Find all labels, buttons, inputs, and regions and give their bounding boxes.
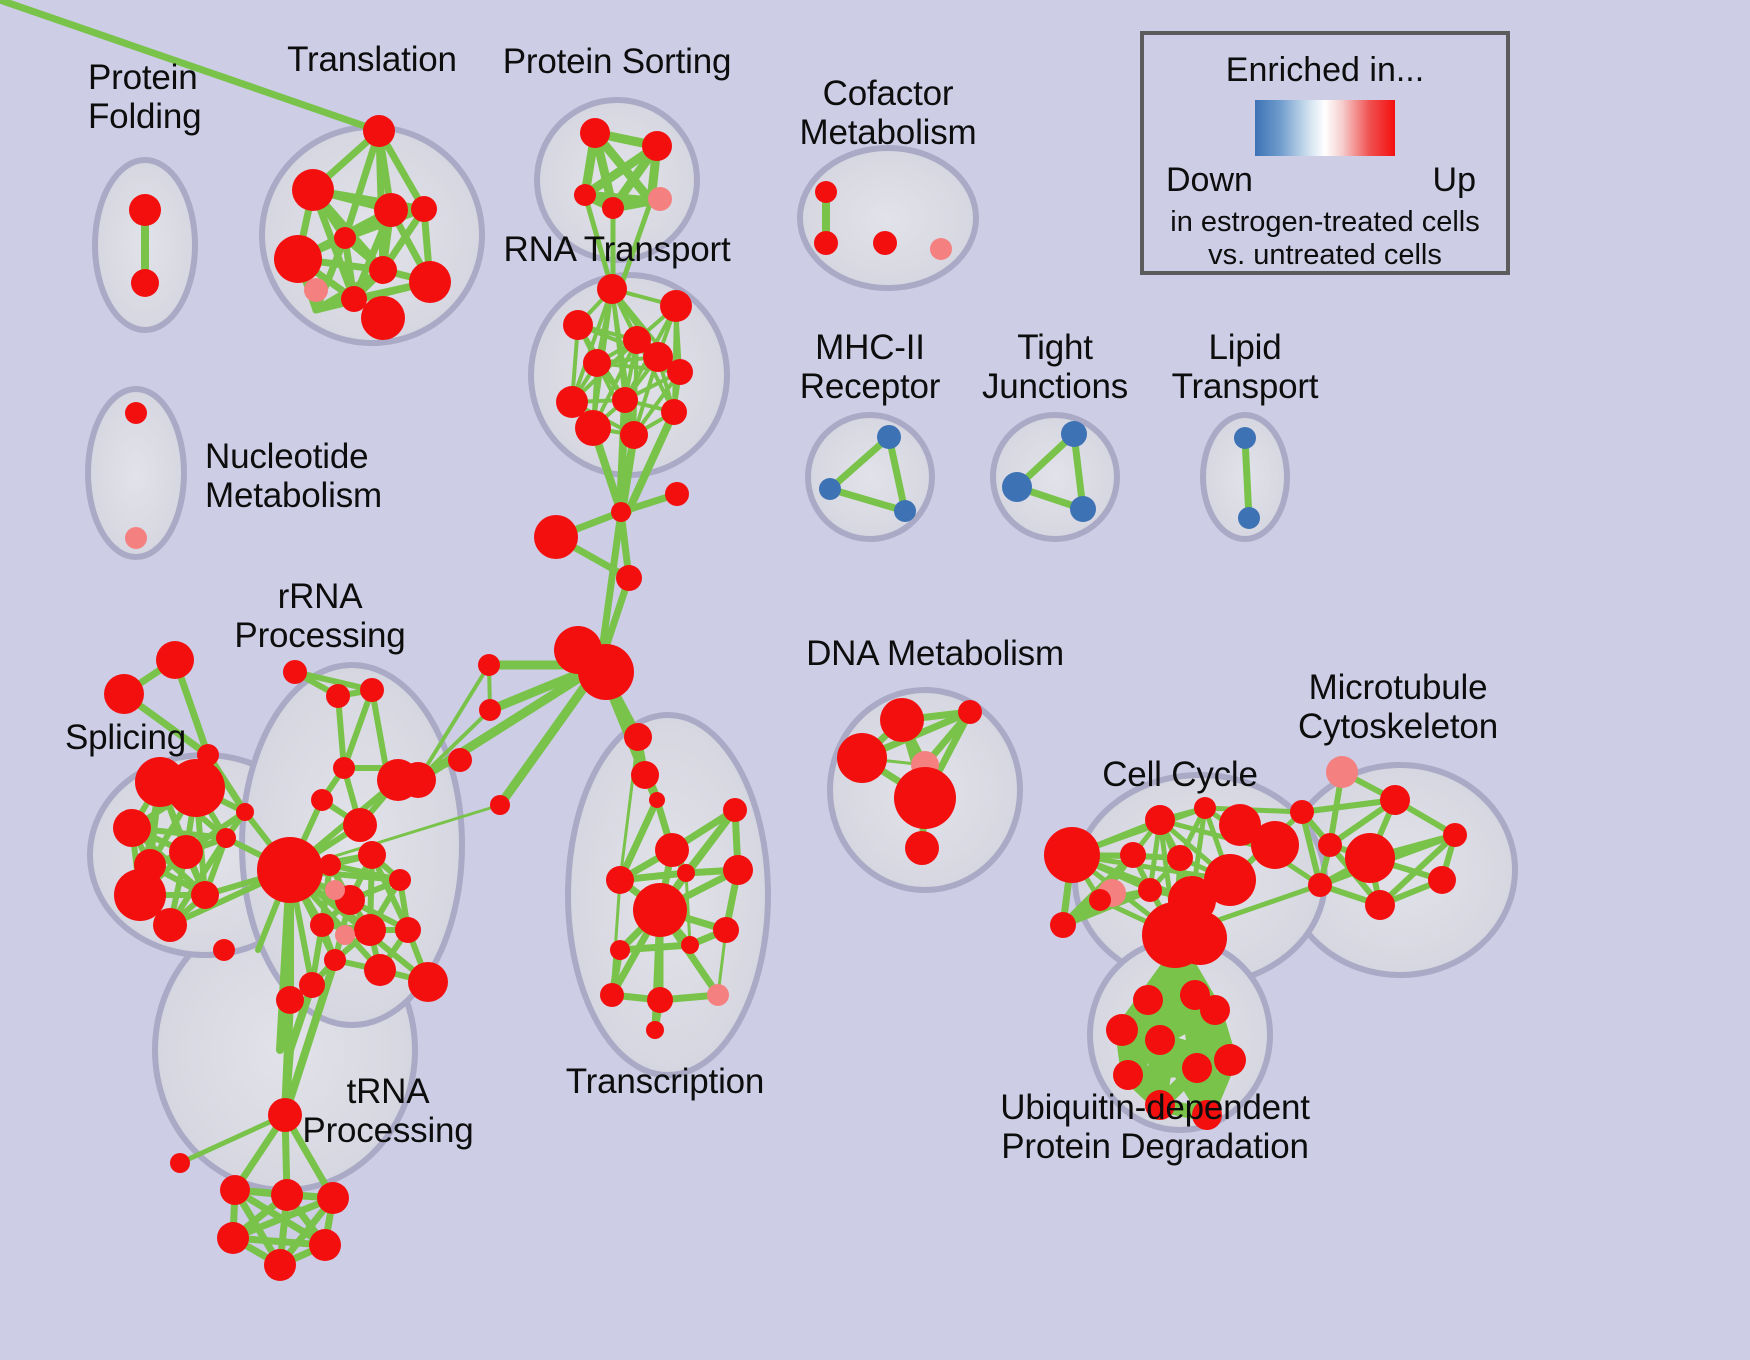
node-up <box>191 881 219 909</box>
node-up-weak <box>707 984 729 1006</box>
node-up <box>616 565 642 591</box>
node-up <box>216 828 236 848</box>
node-up <box>815 181 837 203</box>
cluster-label-cofactor-metabolism: Cofactor Metabolism <box>800 74 977 152</box>
node-up <box>958 700 982 724</box>
node-up <box>1318 833 1342 857</box>
node-down <box>1070 496 1096 522</box>
node-down <box>877 425 901 449</box>
node-up <box>1290 800 1314 824</box>
node-up <box>479 699 501 721</box>
node-up <box>575 410 611 446</box>
cluster-label-splicing: Splicing <box>65 718 186 757</box>
node-up <box>389 869 411 891</box>
node-up <box>364 954 396 986</box>
node-up-weak <box>930 238 952 260</box>
node-up <box>1182 1053 1212 1083</box>
node-up <box>271 1179 303 1211</box>
node-up <box>360 678 384 702</box>
node-up <box>268 1098 302 1132</box>
node-up <box>170 1153 190 1173</box>
node-up <box>597 274 627 304</box>
node-up <box>894 767 956 829</box>
node-down <box>1061 421 1087 447</box>
node-down <box>1002 472 1032 502</box>
node-up <box>1044 827 1100 883</box>
node-up <box>217 1222 249 1254</box>
node-up <box>661 399 687 425</box>
node-up-weak <box>648 187 672 211</box>
node-up <box>677 864 695 882</box>
cluster-label-ubiquitin-protein-degradation: Ubiquitin-dependent Protein Degradation <box>1000 1088 1310 1166</box>
cluster-label-mhc-ii-receptor: MHC-II Receptor <box>800 328 940 406</box>
node-up <box>647 987 673 1013</box>
node-up <box>1194 797 1216 819</box>
node-up <box>1200 995 1230 1025</box>
node-up <box>905 831 939 865</box>
node-up <box>612 387 638 413</box>
node-up <box>1428 866 1456 894</box>
node-up <box>642 131 672 161</box>
node-up <box>631 761 659 789</box>
node-up <box>1170 940 1190 960</box>
node-up <box>880 698 924 742</box>
cluster-label-translation: Translation <box>287 40 457 79</box>
node-up <box>1308 873 1332 897</box>
node-up <box>723 855 753 885</box>
node-up <box>131 269 159 297</box>
node-up-weak <box>304 278 328 302</box>
node-up-weak <box>335 925 355 945</box>
node-up <box>624 723 652 751</box>
node-up <box>873 231 897 255</box>
node-up <box>1145 805 1175 835</box>
node-up <box>578 644 634 700</box>
legend-color-gradient-bar <box>1255 100 1395 156</box>
node-up <box>478 654 500 676</box>
node-up <box>358 841 386 869</box>
node-up <box>409 261 451 303</box>
node-up <box>257 837 323 903</box>
node-up <box>1167 845 1193 871</box>
cluster-label-transcription: Transcription <box>566 1062 764 1101</box>
node-up <box>649 792 665 808</box>
node-up <box>310 913 334 937</box>
node-up <box>311 789 333 811</box>
node-up <box>574 184 596 206</box>
node-up <box>274 235 322 283</box>
node-up <box>341 286 367 312</box>
node-up <box>606 866 634 894</box>
node-up <box>723 798 747 822</box>
cluster-label-lipid-transport: Lipid Transport <box>1172 328 1319 406</box>
node-up <box>156 641 194 679</box>
node-up <box>814 231 838 255</box>
hull-mhc-ii-receptor <box>808 415 932 539</box>
node-up <box>264 1249 296 1281</box>
node-up <box>610 940 630 960</box>
node-up <box>299 972 325 998</box>
node-up <box>369 256 397 284</box>
node-up <box>411 196 437 222</box>
node-up <box>580 118 610 148</box>
node-up <box>319 854 341 876</box>
legend-box: Enriched in... Down Up in estrogen-treat… <box>1140 31 1510 275</box>
node-up <box>1113 1060 1143 1090</box>
node-up <box>333 757 355 779</box>
node-up <box>1253 837 1275 859</box>
node-up <box>713 917 739 943</box>
node-up <box>1133 985 1163 1015</box>
node-up <box>283 660 307 684</box>
node-up <box>129 194 161 226</box>
node-up <box>374 193 408 227</box>
cluster-label-dna-metabolism: DNA Metabolism <box>806 634 1064 673</box>
node-up <box>113 809 151 847</box>
node-up <box>448 748 472 772</box>
node-up <box>354 914 386 946</box>
node-up-weak <box>325 880 345 900</box>
cluster-label-microtubule-cytoskeleton: Microtubule Cytoskeleton <box>1298 668 1498 746</box>
node-up <box>153 908 187 942</box>
node-up <box>1050 912 1076 938</box>
legend-caption-line1: in estrogen-treated cells <box>1144 206 1506 239</box>
node-up <box>361 296 405 340</box>
node-up <box>343 808 377 842</box>
node-up <box>292 169 334 211</box>
cluster-label-protein-folding: Protein Folding <box>88 58 201 136</box>
node-up <box>169 835 203 869</box>
node-up <box>681 936 699 954</box>
node-down <box>819 478 841 500</box>
node-up <box>1345 833 1395 883</box>
node-up <box>363 115 395 147</box>
cluster-label-cell-cycle: Cell Cycle <box>1102 755 1258 794</box>
node-up <box>583 349 611 377</box>
cluster-label-tight-junctions: Tight Junctions <box>982 328 1128 406</box>
cluster-label-protein-sorting: Protein Sorting <box>503 42 732 81</box>
node-up <box>1365 890 1395 920</box>
node-up-weak <box>125 527 147 549</box>
node-up <box>1138 878 1162 902</box>
legend-caption-line2: vs. untreated cells <box>1144 239 1506 272</box>
node-up <box>633 883 687 937</box>
node-down <box>894 500 916 522</box>
node-up <box>490 795 510 815</box>
enrichment-map-figure: Protein Folding Translation Nucleotide M… <box>0 0 1750 1360</box>
legend-high-label: Up <box>1433 161 1476 200</box>
node-up <box>1089 889 1111 911</box>
node-down <box>1234 427 1256 449</box>
node-up <box>534 515 578 559</box>
node-up <box>667 359 693 385</box>
node-up <box>309 1229 341 1261</box>
node-up <box>167 759 225 817</box>
node-up <box>1120 842 1146 868</box>
node-up <box>611 502 631 522</box>
node-up <box>395 917 421 943</box>
node-up <box>1145 1025 1175 1055</box>
node-up <box>563 310 593 340</box>
node-up <box>665 482 689 506</box>
legend-title: Enriched in... <box>1144 51 1506 90</box>
node-up <box>646 1021 664 1039</box>
node-up <box>334 227 356 249</box>
node-up <box>408 962 448 1002</box>
node-up <box>1106 1014 1138 1046</box>
node-up <box>276 986 304 1014</box>
node-up <box>317 1182 349 1214</box>
node-up <box>837 733 887 783</box>
node-up-weak <box>1326 756 1358 788</box>
node-up <box>1443 823 1467 847</box>
legend-low-label: Down <box>1166 161 1253 200</box>
node-up <box>104 674 144 714</box>
node-up <box>1380 785 1410 815</box>
cluster-label-rna-transport: RNA Transport <box>504 230 731 269</box>
node-up <box>125 402 147 424</box>
node-up <box>220 1175 250 1205</box>
node-up <box>213 939 235 961</box>
node-up <box>324 949 346 971</box>
node-up <box>620 421 648 449</box>
node-up <box>400 762 436 798</box>
node-up <box>236 803 254 821</box>
node-up <box>655 833 689 867</box>
node-up <box>600 983 624 1007</box>
node-up <box>660 290 692 322</box>
cluster-label-trna-processing: tRNA Processing <box>302 1072 473 1150</box>
node-down <box>1238 507 1260 529</box>
cluster-label-nucleotide-metabolism: Nucleotide Metabolism <box>205 437 382 515</box>
node-up <box>602 197 624 219</box>
node-up <box>1214 1044 1246 1076</box>
node-up <box>326 684 350 708</box>
cluster-label-rrna-processing: rRNA Processing <box>234 577 405 655</box>
